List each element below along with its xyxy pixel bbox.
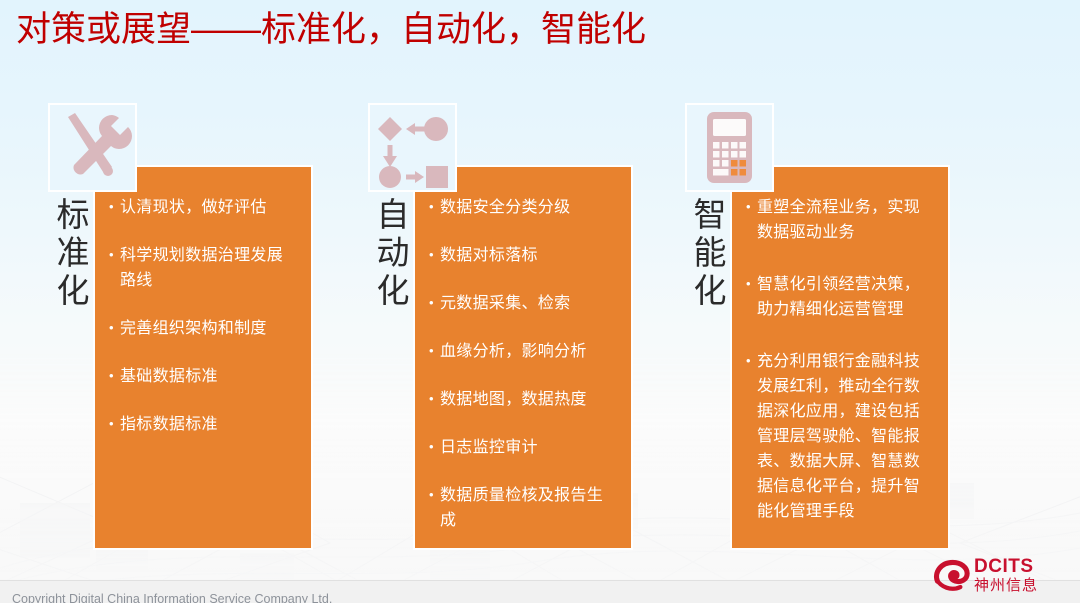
list-item: 科学规划数据治理发展路线 (109, 243, 297, 293)
list-item: 完善组织架构和制度 (109, 316, 297, 341)
workflow-icon (370, 105, 455, 190)
label-char: 动 (370, 234, 416, 272)
list-item: 数据地图，数据热度 (429, 387, 617, 412)
label-char: 标 (50, 196, 96, 234)
label-char: 化 (370, 272, 416, 310)
copyright-text: Copyright Digital China Information Serv… (12, 592, 332, 603)
list-item: 重塑全流程业务，实现数据驱动业务 (746, 195, 934, 245)
bullet-list-automation: 数据安全分类分级 数据对标落标 元数据采集、检索 血缘分析，影响分析 数据地图，… (415, 167, 631, 566)
list-item: 日志监控审计 (429, 435, 617, 460)
bullet-list-intelligence: 重塑全流程业务，实现数据驱动业务 智慧化引领经营决策，助力精细化运营管理 充分利… (732, 167, 948, 561)
list-item: 认清现状，做好评估 (109, 195, 297, 220)
icon-box-automation (368, 103, 457, 192)
list-item: 充分利用银行金融科技发展红利，推动全行数据深化应用，建设包括管理层驾驶舱、智能报… (746, 349, 934, 524)
content-box-standardization: 认清现状，做好评估 科学规划数据治理发展路线 完善组织架构和制度 基础数据标准 … (93, 165, 313, 550)
icon-box-standardization (48, 103, 137, 192)
logo-cn-text: 神州信息 (974, 577, 1070, 595)
dcits-logo-mark-icon (932, 559, 970, 593)
vertical-label-standardization: 标 准 化 (50, 196, 96, 310)
label-char: 化 (687, 272, 733, 310)
logo-en-text: DCITS (974, 557, 1070, 577)
list-item: 智慧化引领经营决策，助力精细化运营管理 (746, 272, 934, 322)
list-item: 指标数据标准 (109, 412, 297, 437)
list-item: 元数据采集、检索 (429, 291, 617, 316)
list-item: 血缘分析，影响分析 (429, 339, 617, 364)
icon-box-intelligence (685, 103, 774, 192)
label-char: 准 (50, 234, 96, 272)
slide-canvas: 对策或展望——标准化，自动化，智能化 认清现状，做好评估 科学规划数据治理发展路… (0, 0, 1080, 603)
list-item: 数据对标落标 (429, 243, 617, 268)
content-box-intelligence: 重塑全流程业务，实现数据驱动业务 智慧化引领经营决策，助力精细化运营管理 充分利… (730, 165, 950, 550)
dcits-logo-text: DCITS 神州信息 (974, 557, 1070, 595)
bullet-list-standardization: 认清现状，做好评估 科学规划数据治理发展路线 完善组织架构和制度 基础数据标准 … (95, 167, 311, 470)
list-item: 基础数据标准 (109, 364, 297, 389)
list-item: 数据质量检核及报告生成 (429, 483, 617, 533)
calculator-icon (687, 105, 772, 190)
tools-icon (50, 105, 135, 190)
list-item: 数据安全分类分级 (429, 195, 617, 220)
vertical-label-automation: 自 动 化 (370, 196, 416, 310)
label-char: 化 (50, 272, 96, 310)
label-char: 自 (370, 196, 416, 234)
label-char: 智 (687, 196, 733, 234)
label-char: 能 (687, 234, 733, 272)
dcits-logo: DCITS 神州信息 (932, 557, 1072, 597)
content-box-automation: 数据安全分类分级 数据对标落标 元数据采集、检索 血缘分析，影响分析 数据地图，… (413, 165, 633, 550)
vertical-label-intelligence: 智 能 化 (687, 196, 733, 310)
